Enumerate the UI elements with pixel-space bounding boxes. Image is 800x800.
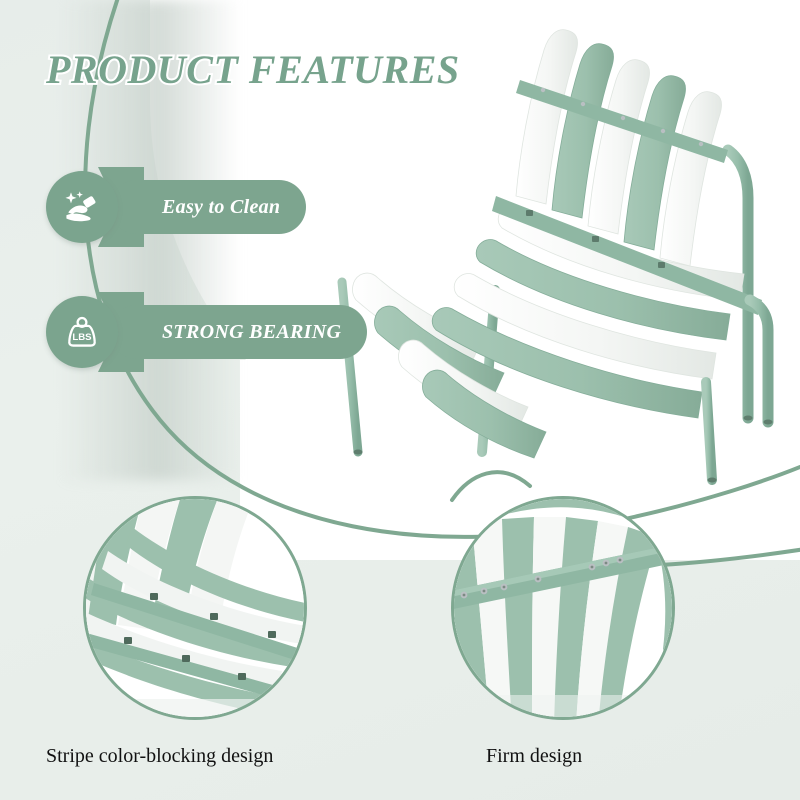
seat-bracket: [658, 262, 665, 268]
page-title: PRODUCT FEATURES: [46, 46, 460, 93]
feature-label: STRONG BEARING: [162, 321, 341, 344]
feature-label: Easy to Clean: [162, 196, 280, 219]
rivet-icon: [621, 116, 625, 120]
seat-bracket: [526, 210, 533, 216]
rivet-icon: [661, 129, 665, 133]
badge-pill: Easy to Clean: [110, 180, 306, 234]
detail-caption-stripe: Stripe color-blocking design: [46, 745, 273, 768]
foot-cap: [354, 450, 363, 455]
detail-firm-illustration: [454, 499, 675, 720]
rivet-icon: [541, 88, 545, 92]
weight-unit-label: LBS: [72, 332, 92, 343]
foot-cap: [744, 416, 753, 421]
foot-cap: [764, 420, 773, 425]
detail-caption-firm: Firm design: [486, 745, 582, 768]
foot-cap: [708, 478, 717, 483]
chair-front-right-leg: [706, 382, 712, 480]
hand-wipe-sparkle-icon: [46, 171, 118, 243]
product-features-infographic: PRODUCT FEATURES Easy to Clean STRONG BE…: [0, 0, 800, 800]
rivet-icon: [581, 102, 585, 106]
detail-circle-stripe-color-blocking: [83, 496, 307, 720]
detail-circle-firm-design: [451, 496, 675, 720]
weight-lbs-icon: LBS: [46, 296, 118, 368]
detail-stripes-illustration: [86, 499, 307, 720]
rivet-icon: [699, 142, 703, 146]
seat-bracket: [592, 236, 599, 242]
badge-pill: STRONG BEARING: [110, 305, 367, 359]
